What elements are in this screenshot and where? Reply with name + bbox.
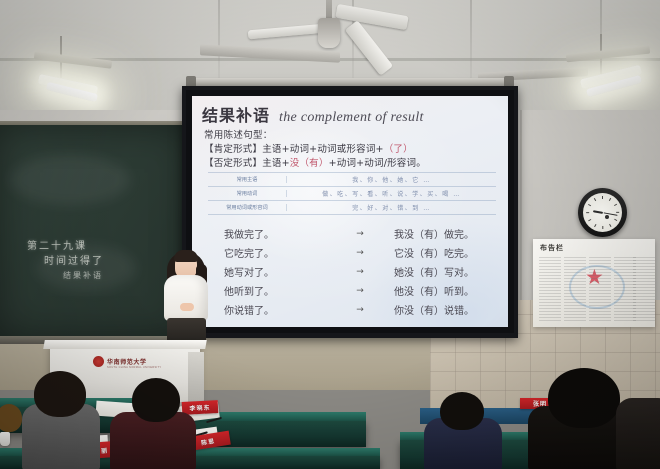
- slide-subtitle: 常用陈述句型：: [204, 127, 273, 141]
- student-head: [34, 371, 86, 417]
- teacher-torso: [164, 275, 208, 321]
- example-affirmative: 它吃完了。: [210, 245, 334, 260]
- slide-examples: 我做完了。 → 我没（有）做完。 它吃完了。 → 它没（有）吃完。 她写对了。 …: [210, 224, 496, 319]
- slide-pattern-affirmative: 【肯定形式】主语+动词+动词或形容词+（了）: [204, 141, 413, 155]
- slide-reference-table: 常用主语 我、你、他、她、它 … 常用动词 做、吃、写、看、听、说、学、买、喝 …: [208, 172, 496, 215]
- blackboard-line-2: 时间过得了: [44, 252, 104, 267]
- arrow-right-icon: →: [334, 248, 386, 258]
- clock-center-pin: [605, 215, 609, 219]
- clock-hour-hand: [593, 210, 603, 214]
- table-row-value: 完、好、对、错、到 …: [287, 203, 496, 212]
- university-emblem-icon: [93, 356, 104, 367]
- slide-title: 结果补语 the complement of result: [202, 102, 424, 126]
- example-negative: 它没（有）吃完。: [386, 245, 496, 260]
- pattern-affirmative-text: 【肯定形式】主语+动词+动词或形容词+: [204, 144, 384, 155]
- table-row: 常用主语 我、你、他、她、它 …: [208, 172, 496, 187]
- example-affirmative: 你说错了。: [210, 302, 334, 317]
- student-head: [0, 404, 22, 432]
- arrow-right-icon: →: [334, 229, 386, 239]
- example-row: 他听到了。 → 他没（有）听到。: [210, 281, 496, 300]
- ceiling-fan-hub: [318, 18, 340, 48]
- slide-title-cn: 结果补语: [202, 102, 270, 126]
- table-row-label: 常用动词: [208, 190, 287, 197]
- table-row-value: 做、吃、写、看、听、说、学、买、喝 …: [287, 189, 496, 198]
- example-affirmative: 我做完了。: [210, 226, 334, 241]
- pattern-negative-highlight: 没（有）: [290, 158, 329, 169]
- teacher-hairline: [174, 250, 198, 262]
- table-row: 常用动词或形容词 完、好、对、错、到 …: [208, 201, 496, 215]
- table-row-value: 我、你、他、她、它 …: [287, 175, 496, 184]
- arrow-right-icon: →: [334, 305, 386, 315]
- lectern-top: [43, 340, 207, 349]
- ceiling-fan-rod: [326, 0, 332, 20]
- arrow-right-icon: →: [334, 267, 386, 277]
- projection-screen-inner: 结果补语 the complement of result 常用陈述句型： 【肯…: [186, 90, 514, 333]
- placard-name: 陈思: [200, 435, 215, 446]
- presentation-slide: 结果补语 the complement of result 常用陈述句型： 【肯…: [192, 96, 508, 327]
- pattern-negative-text: 【否定形式】主语+: [204, 158, 290, 169]
- example-row: 它吃完了。 → 它没（有）吃完。: [210, 243, 496, 262]
- table-row-label: 常用主语: [208, 176, 287, 183]
- example-row: 你说错了。 → 你没（有）说错。: [210, 300, 496, 319]
- university-name-en: SOUTH CHINA NORMAL UNIVERSITY: [107, 366, 161, 369]
- notice-board-title: 布告栏: [540, 243, 564, 253]
- student-head: [440, 392, 484, 430]
- university-name-cn: 华南师范大学: [107, 357, 147, 366]
- example-negative: 我没（有）做完。: [386, 226, 496, 241]
- student-head: [132, 378, 180, 422]
- teacher-hands: [180, 303, 194, 311]
- classroom-photo: 第二十九课 时间过得了 结果补语 结果补语 the complement of …: [0, 0, 660, 469]
- slide-pattern-negative: 【否定形式】主语+没（有）+动词+动词/形容词。: [204, 155, 426, 169]
- student-head: [548, 368, 620, 428]
- example-row: 我做完了。 → 我没（有）做完。: [210, 224, 496, 243]
- arrow-right-icon: →: [334, 286, 386, 296]
- placard-name: 李晓东: [189, 402, 210, 412]
- example-negative: 她没（有）写对。: [386, 264, 496, 279]
- table-row-label: 常用动词或形容词: [208, 204, 287, 211]
- blackboard-line-3: 结果补语: [63, 270, 103, 281]
- paper-cup: [0, 432, 10, 446]
- example-negative: 你没（有）说错。: [386, 302, 496, 317]
- table-row: 常用动词 做、吃、写、看、听、说、学、买、喝 …: [208, 187, 496, 201]
- clock-face: [583, 193, 622, 232]
- pattern-negative-suffix: +动词+动词/形容词。: [329, 158, 426, 169]
- pattern-affirmative-highlight: （了）: [384, 144, 413, 155]
- example-affirmative: 她写对了。: [210, 264, 334, 279]
- blackboard-line-1: 第二十九课: [27, 237, 87, 252]
- projection-screen: 结果补语 the complement of result 常用陈述句型： 【肯…: [182, 86, 518, 338]
- example-affirmative: 他听到了。: [210, 283, 334, 298]
- example-negative: 他没（有）听到。: [386, 283, 496, 298]
- example-row: 她写对了。 → 她没（有）写对。: [210, 262, 496, 281]
- wall-clock: [578, 188, 627, 237]
- slide-title-en: the complement of result: [279, 110, 424, 126]
- student-torso: [616, 398, 660, 469]
- notice-board: 布告栏 ★: [533, 239, 655, 327]
